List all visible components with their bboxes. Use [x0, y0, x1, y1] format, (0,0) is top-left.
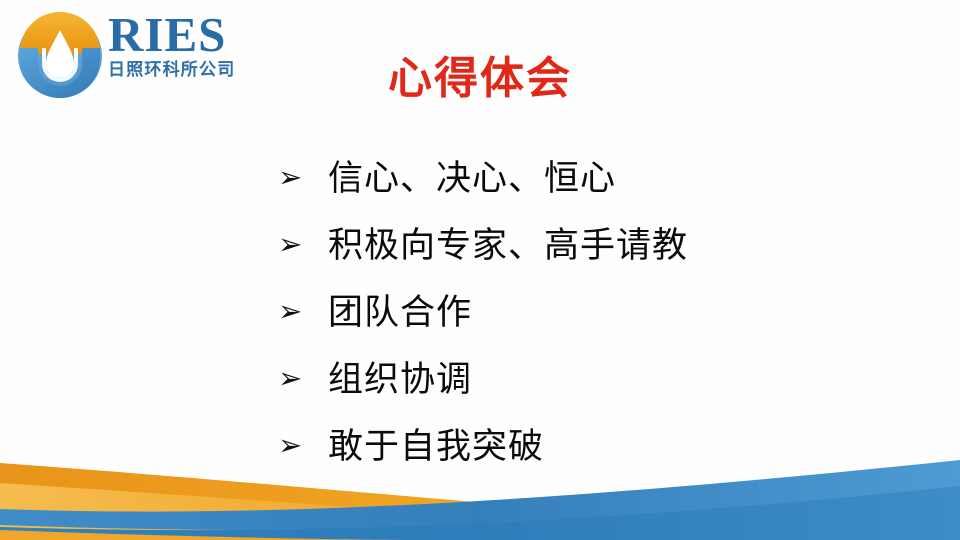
- arrow-bullet-icon: ➢: [278, 364, 328, 393]
- list-item-label: 组织协调: [328, 359, 918, 401]
- logo-wordmark: RIES: [108, 10, 266, 60]
- list-item: ➢ 敢于自我突破: [278, 413, 918, 480]
- arrow-bullet-icon: ➢: [278, 163, 328, 192]
- list-item-label: 敢于自我突破: [328, 426, 918, 468]
- list-item: ➢ 积极向专家、高手请教: [278, 212, 918, 279]
- list-item: ➢ 团队合作: [278, 279, 918, 346]
- page-title: 心得体会: [0, 54, 960, 105]
- arrow-bullet-icon: ➢: [278, 297, 328, 326]
- arrow-bullet-icon: ➢: [278, 230, 328, 259]
- list-item: ➢ 信心、决心、恒心: [278, 145, 918, 212]
- bullet-list: ➢ 信心、决心、恒心 ➢ 积极向专家、高手请教 ➢ 团队合作 ➢ 组织协调 ➢ …: [278, 145, 918, 480]
- list-item-label: 积极向专家、高手请教: [328, 225, 918, 267]
- presentation-slide: RIES 日照环科所公司 心得体会 ➢ 信心、决心、恒心 ➢ 积极向专家、高手请…: [0, 0, 960, 540]
- list-item-label: 团队合作: [328, 292, 918, 334]
- list-item: ➢ 组织协调: [278, 346, 918, 413]
- list-item-label: 信心、决心、恒心: [328, 158, 918, 200]
- arrow-bullet-icon: ➢: [278, 431, 328, 460]
